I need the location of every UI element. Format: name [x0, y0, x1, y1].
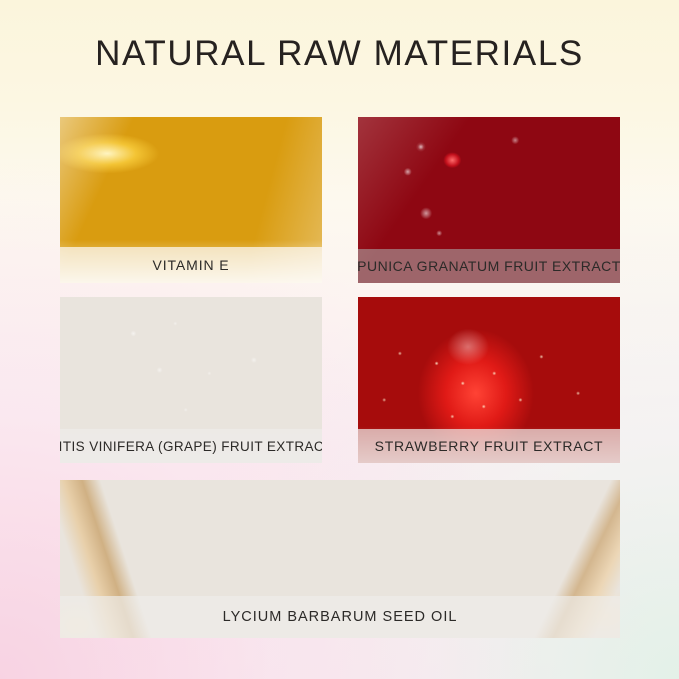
ingredient-label-vitis-vinifera: VITIS VINIFERA (GRAPE) FRUIT EXTRACT	[60, 429, 322, 463]
ingredient-label-vitamin-e: VITAMIN E	[60, 247, 322, 283]
ingredient-label-punica-granatum: PUNICA GRANATUM FRUIT EXTRACT	[358, 249, 620, 283]
ingredient-card-vitamin-e[interactable]: VITAMIN E	[60, 117, 322, 283]
ingredient-label-lycium-barbarum: LYCIUM BARBARUM SEED OIL	[60, 596, 620, 638]
ingredient-card-punica-granatum[interactable]: PUNICA GRANATUM FRUIT EXTRACT	[358, 117, 620, 283]
ingredient-card-strawberry[interactable]: STRAWBERRY FRUIT EXTRACT	[358, 297, 620, 463]
page-title: NATURAL RAW MATERIALS	[0, 34, 679, 74]
ingredient-card-lycium-barbarum[interactable]: LYCIUM BARBARUM SEED OIL	[60, 480, 620, 638]
ingredient-card-vitis-vinifera[interactable]: VITIS VINIFERA (GRAPE) FRUIT EXTRACT	[60, 297, 322, 463]
ingredient-label-strawberry: STRAWBERRY FRUIT EXTRACT	[358, 429, 620, 463]
product-ingredients-infographic: NATURAL RAW MATERIALS VITAMIN E PUNICA G…	[0, 0, 679, 679]
